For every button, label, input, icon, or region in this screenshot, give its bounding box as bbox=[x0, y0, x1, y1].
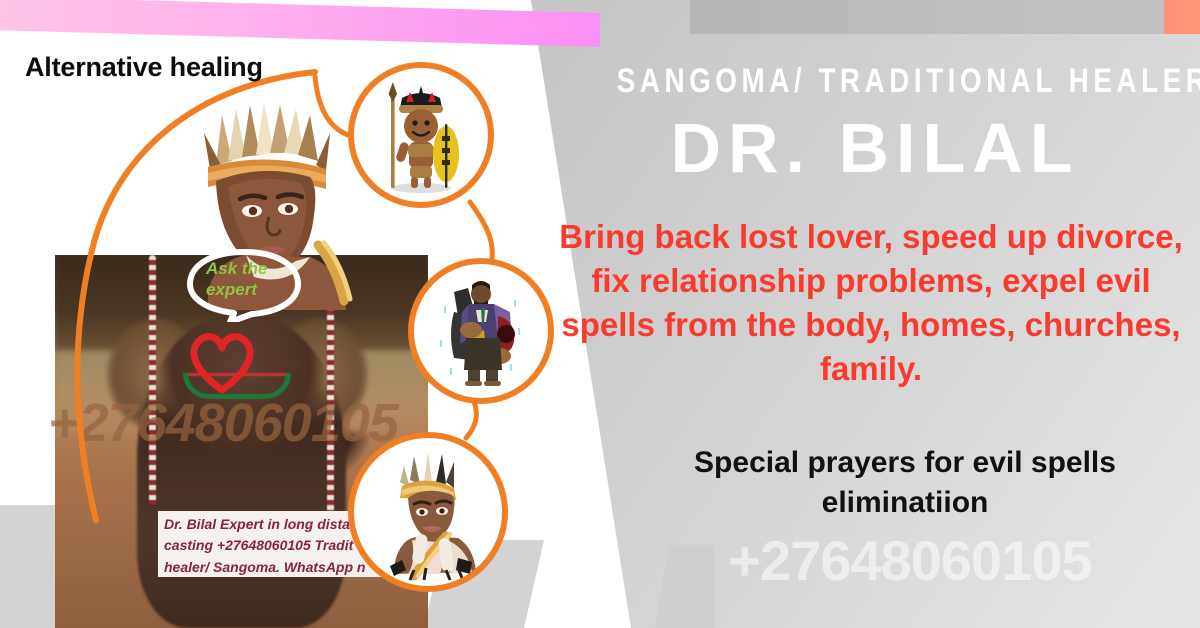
top-bar-salmon bbox=[1164, 0, 1200, 34]
circle-zulu-warrior bbox=[348, 62, 494, 208]
traditional-traveller-icon bbox=[414, 264, 548, 398]
watermark-phone-number: +27648060105 bbox=[620, 528, 1200, 593]
poster-root: Alternative healing bbox=[0, 0, 1200, 628]
top-bar-gray bbox=[690, 0, 1170, 34]
bottom-left-gray-slab bbox=[0, 505, 60, 628]
heart-icon bbox=[186, 330, 258, 396]
prayers-paragraph: Special prayers for evil spells eliminat… bbox=[620, 443, 1190, 523]
zulu-warrior-cartoon-icon bbox=[354, 68, 488, 202]
top-bar-pink bbox=[0, 0, 600, 47]
ask-the-expert-label: Ask the expert bbox=[206, 258, 302, 301]
alternative-healing-label: Alternative healing bbox=[25, 52, 263, 83]
circle-kneeling-healer bbox=[348, 432, 508, 592]
services-paragraph: Bring back lost lover, speed up divorce,… bbox=[546, 215, 1196, 391]
kneeling-healer-icon bbox=[354, 438, 502, 586]
circle-traveller-healer bbox=[408, 258, 554, 404]
photo-watermark-phone: +27648060105 bbox=[48, 392, 398, 454]
page-title: DR. BILAL bbox=[560, 108, 1190, 188]
kicker-heading: SANGOMA/ TRADITIONAL HEALER bbox=[617, 62, 1134, 101]
